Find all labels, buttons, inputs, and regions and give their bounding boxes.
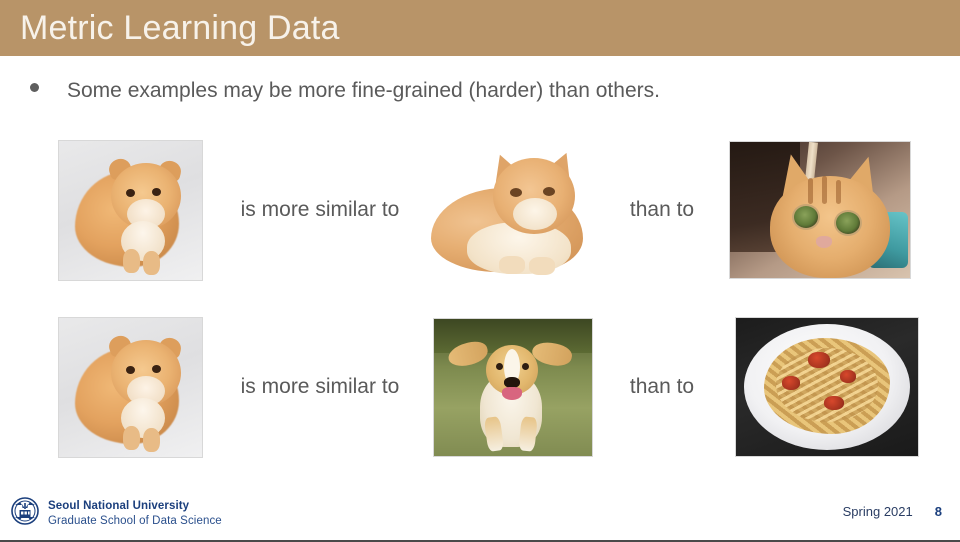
bullet-list-item: Some examples may be more fine-grained (… <box>30 78 660 103</box>
tabby-stripe-shape <box>808 178 813 204</box>
tabby-eye-right-shape <box>834 210 862 236</box>
fat-cat-eye-left-shape <box>510 188 522 197</box>
running-dog-photo <box>433 318 593 457</box>
kitten-eye-left-shape <box>126 366 135 374</box>
comparison-row-1-phrase-2: than to <box>607 198 717 222</box>
kitten-eye-right-shape <box>152 188 161 196</box>
seoul-national-university-emblem-icon <box>10 496 40 531</box>
spaghetti-sauce-shape <box>782 376 800 390</box>
comparison-row-2-positive-image <box>433 318 593 457</box>
department-name: Graduate School of Data Science <box>48 514 222 528</box>
comparison-row-1-negative-image <box>729 141 911 279</box>
kitten-photo <box>58 140 203 281</box>
comparison-row-1-phrase-1: is more similar to <box>225 198 415 222</box>
comparison-row-2-phrase-1: is more similar to <box>225 375 415 399</box>
page-number: 8 <box>935 504 942 519</box>
spaghetti-sauce-shape <box>840 370 856 383</box>
fat-cat-paw-right-shape <box>529 257 555 275</box>
kitten-paw-left-shape <box>123 426 140 450</box>
dog-eye-right-shape <box>522 363 529 370</box>
fat-cat-photo <box>425 140 595 280</box>
kitten-eye-left-shape <box>126 189 135 197</box>
fat-cat-paw-left-shape <box>499 256 525 274</box>
dog-mouth-shape <box>502 387 522 400</box>
comparison-row-2-negative-image <box>735 317 919 457</box>
kitten-paw-right-shape <box>143 251 160 275</box>
university-branding: Seoul National University Graduate Schoo… <box>10 496 222 531</box>
bullet-dot-icon <box>30 83 39 92</box>
spaghetti-sauce-shape <box>824 396 844 410</box>
comparison-row-2-phrase-2: than to <box>607 375 717 399</box>
kitten-photo <box>58 317 203 458</box>
university-name-block: Seoul National University Graduate Schoo… <box>48 499 222 528</box>
comparison-row-1-positive-image <box>425 140 595 280</box>
comparison-row-1-anchor-image <box>58 140 203 281</box>
tabby-eye-left-shape <box>792 204 820 230</box>
tabby-cat-photo <box>729 141 911 279</box>
kitten-paw-left-shape <box>123 249 140 273</box>
comparison-row-2: is more similar to than to <box>0 312 960 462</box>
spaghetti-sauce-shape <box>808 352 830 368</box>
dog-eye-left-shape <box>496 363 503 370</box>
tabby-stripe-shape <box>822 176 827 204</box>
tabby-nose-shape <box>816 236 832 248</box>
university-name: Seoul National University <box>48 499 222 513</box>
term-label: Spring 2021 <box>843 504 913 519</box>
page-title: Metric Learning Data <box>20 11 340 45</box>
tabby-head-shape <box>770 176 890 278</box>
fat-cat-muzzle-shape <box>513 198 557 230</box>
dog-leg-right-shape <box>518 416 537 451</box>
comparison-row-1: is more similar to than to <box>0 135 960 285</box>
slide: Metric Learning Data Some examples may b… <box>0 0 960 542</box>
slide-footer: Seoul National University Graduate Schoo… <box>0 492 960 540</box>
kitten-paw-right-shape <box>143 428 160 452</box>
comparison-row-2-anchor-image <box>58 317 203 458</box>
slide-title-bar: Metric Learning Data <box>0 0 960 56</box>
kitten-eye-right-shape <box>152 365 161 373</box>
fat-cat-eye-right-shape <box>543 187 555 196</box>
tabby-stripe-shape <box>836 180 841 204</box>
dog-nose-shape <box>504 377 520 388</box>
footer-meta: Spring 2021 8 <box>843 504 942 519</box>
spaghetti-photo <box>735 317 919 457</box>
bullet-text: Some examples may be more fine-grained (… <box>67 78 660 103</box>
